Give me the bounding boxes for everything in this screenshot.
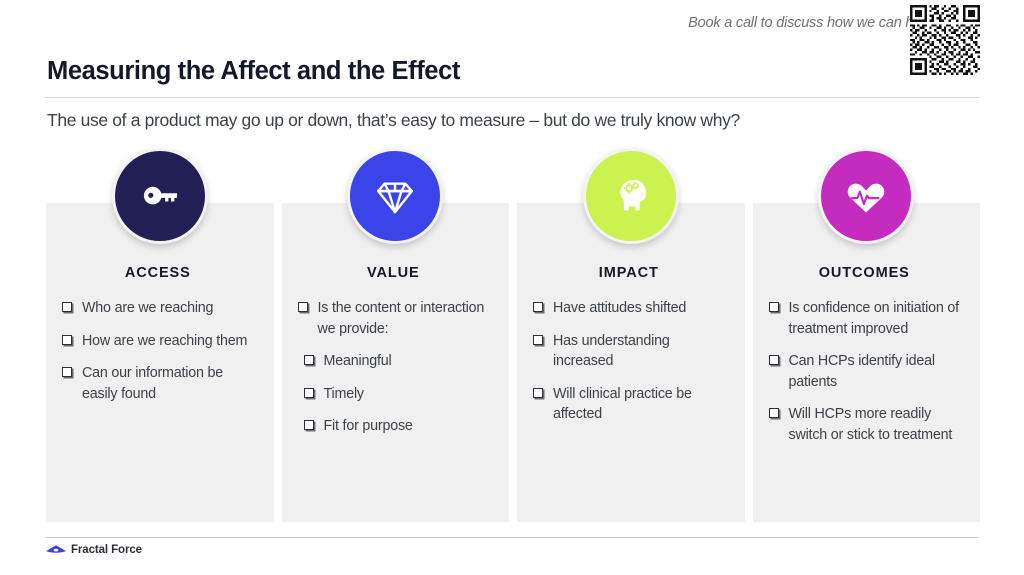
slide: Book a call to discuss how we can help: [0, 0, 1024, 575]
bullet-list-outcomes: Is confidence on initiation of treatment…: [763, 298, 967, 445]
pillar-title-outcomes: OUTCOMES: [763, 265, 967, 281]
bullet-text: Have attitudes shifted: [553, 298, 686, 319]
fractal-force-logo-icon: [45, 543, 67, 557]
list-item: Fit for purpose: [292, 416, 496, 437]
list-item: How are we reaching them: [56, 331, 260, 352]
list-item: Have attitudes shifted: [527, 298, 731, 319]
checkbox-icon[interactable]: [62, 367, 72, 377]
bullet-text: Is confidence on initiation of treatment…: [789, 298, 967, 339]
list-item: Who are we reaching: [56, 298, 260, 319]
qr-code[interactable]: [910, 5, 980, 75]
checkbox-icon[interactable]: [533, 335, 543, 345]
checkbox-icon[interactable]: [304, 355, 314, 365]
pillar-card-access[interactable]: ACCESS Who are we reaching How are we re…: [46, 203, 274, 522]
pillar-card-outcomes[interactable]: OUTCOMES Is confidence on initiation of …: [753, 203, 981, 522]
page-subtitle: The use of a product may go up or down, …: [47, 110, 740, 131]
diamond-icon: [372, 173, 418, 219]
list-item: Is confidence on initiation of treatment…: [763, 298, 967, 339]
bullet-text: Can our information be easily found: [82, 363, 260, 404]
bullet-text: Can HCPs identify ideal patients: [789, 351, 967, 392]
list-item: Has understanding increased: [527, 331, 731, 372]
promo-text: Book a call to discuss how we can help: [688, 6, 932, 31]
checkbox-icon[interactable]: [62, 335, 72, 345]
pillar-card-value[interactable]: VALUE Is the content or interaction we p…: [282, 203, 510, 522]
pillar-title-impact: IMPACT: [527, 265, 731, 281]
bullet-list-impact: Have attitudes shifted Has understanding…: [527, 298, 731, 425]
list-item: Is the content or interaction we provide…: [292, 298, 496, 339]
checkbox-icon[interactable]: [304, 388, 314, 398]
pillar-columns: ACCESS Who are we reaching How are we re…: [46, 203, 980, 522]
key-icon: [137, 173, 183, 219]
pillar-title-access: ACCESS: [56, 265, 260, 281]
checkbox-icon[interactable]: [62, 302, 72, 312]
footer-brand-name: Fractal Force: [71, 544, 142, 556]
bullet-text: Timely: [324, 384, 364, 405]
checkbox-icon[interactable]: [533, 302, 543, 312]
head-gears-icon: [608, 173, 654, 219]
bullet-text: Will clinical practice be affected: [553, 384, 731, 425]
bullet-list-access: Who are we reaching How are we reaching …: [56, 298, 260, 404]
bullet-text: Has understanding increased: [553, 331, 731, 372]
list-item: Will clinical practice be affected: [527, 384, 731, 425]
bullet-text: Will HCPs more readily switch or stick t…: [789, 404, 967, 445]
bullet-text: Fit for purpose: [324, 416, 413, 437]
page-title: Measuring the Affect and the Effect: [47, 57, 460, 86]
checkbox-icon[interactable]: [769, 302, 779, 312]
pillar-title-value: VALUE: [292, 265, 496, 281]
bullet-list-value: Is the content or interaction we provide…: [292, 298, 496, 437]
bullet-text: How are we reaching them: [82, 331, 247, 352]
list-item: Will HCPs more readily switch or stick t…: [763, 404, 967, 445]
impact-icon-circle: [583, 148, 679, 244]
value-icon-circle: [347, 148, 443, 244]
bullet-text: Is the content or interaction we provide…: [318, 298, 496, 339]
list-item: Can our information be easily found: [56, 363, 260, 404]
title-divider: [45, 97, 979, 98]
checkbox-icon[interactable]: [533, 388, 543, 398]
heart-pulse-icon: [843, 173, 889, 219]
bullet-text: Meaningful: [324, 351, 392, 372]
pillar-card-impact[interactable]: IMPACT Have attitudes shifted Has unders…: [517, 203, 745, 522]
access-icon-circle: [112, 148, 208, 244]
checkbox-icon[interactable]: [769, 408, 779, 418]
checkbox-icon[interactable]: [298, 302, 308, 312]
list-item: Timely: [292, 384, 496, 405]
outcomes-icon-circle: [818, 148, 914, 244]
footer-logo[interactable]: Fractal Force: [45, 543, 142, 557]
checkbox-icon[interactable]: [304, 420, 314, 430]
list-item: Meaningful: [292, 351, 496, 372]
bullet-text: Who are we reaching: [82, 298, 213, 319]
list-item: Can HCPs identify ideal patients: [763, 351, 967, 392]
footer-divider: [45, 537, 979, 538]
checkbox-icon[interactable]: [769, 355, 779, 365]
